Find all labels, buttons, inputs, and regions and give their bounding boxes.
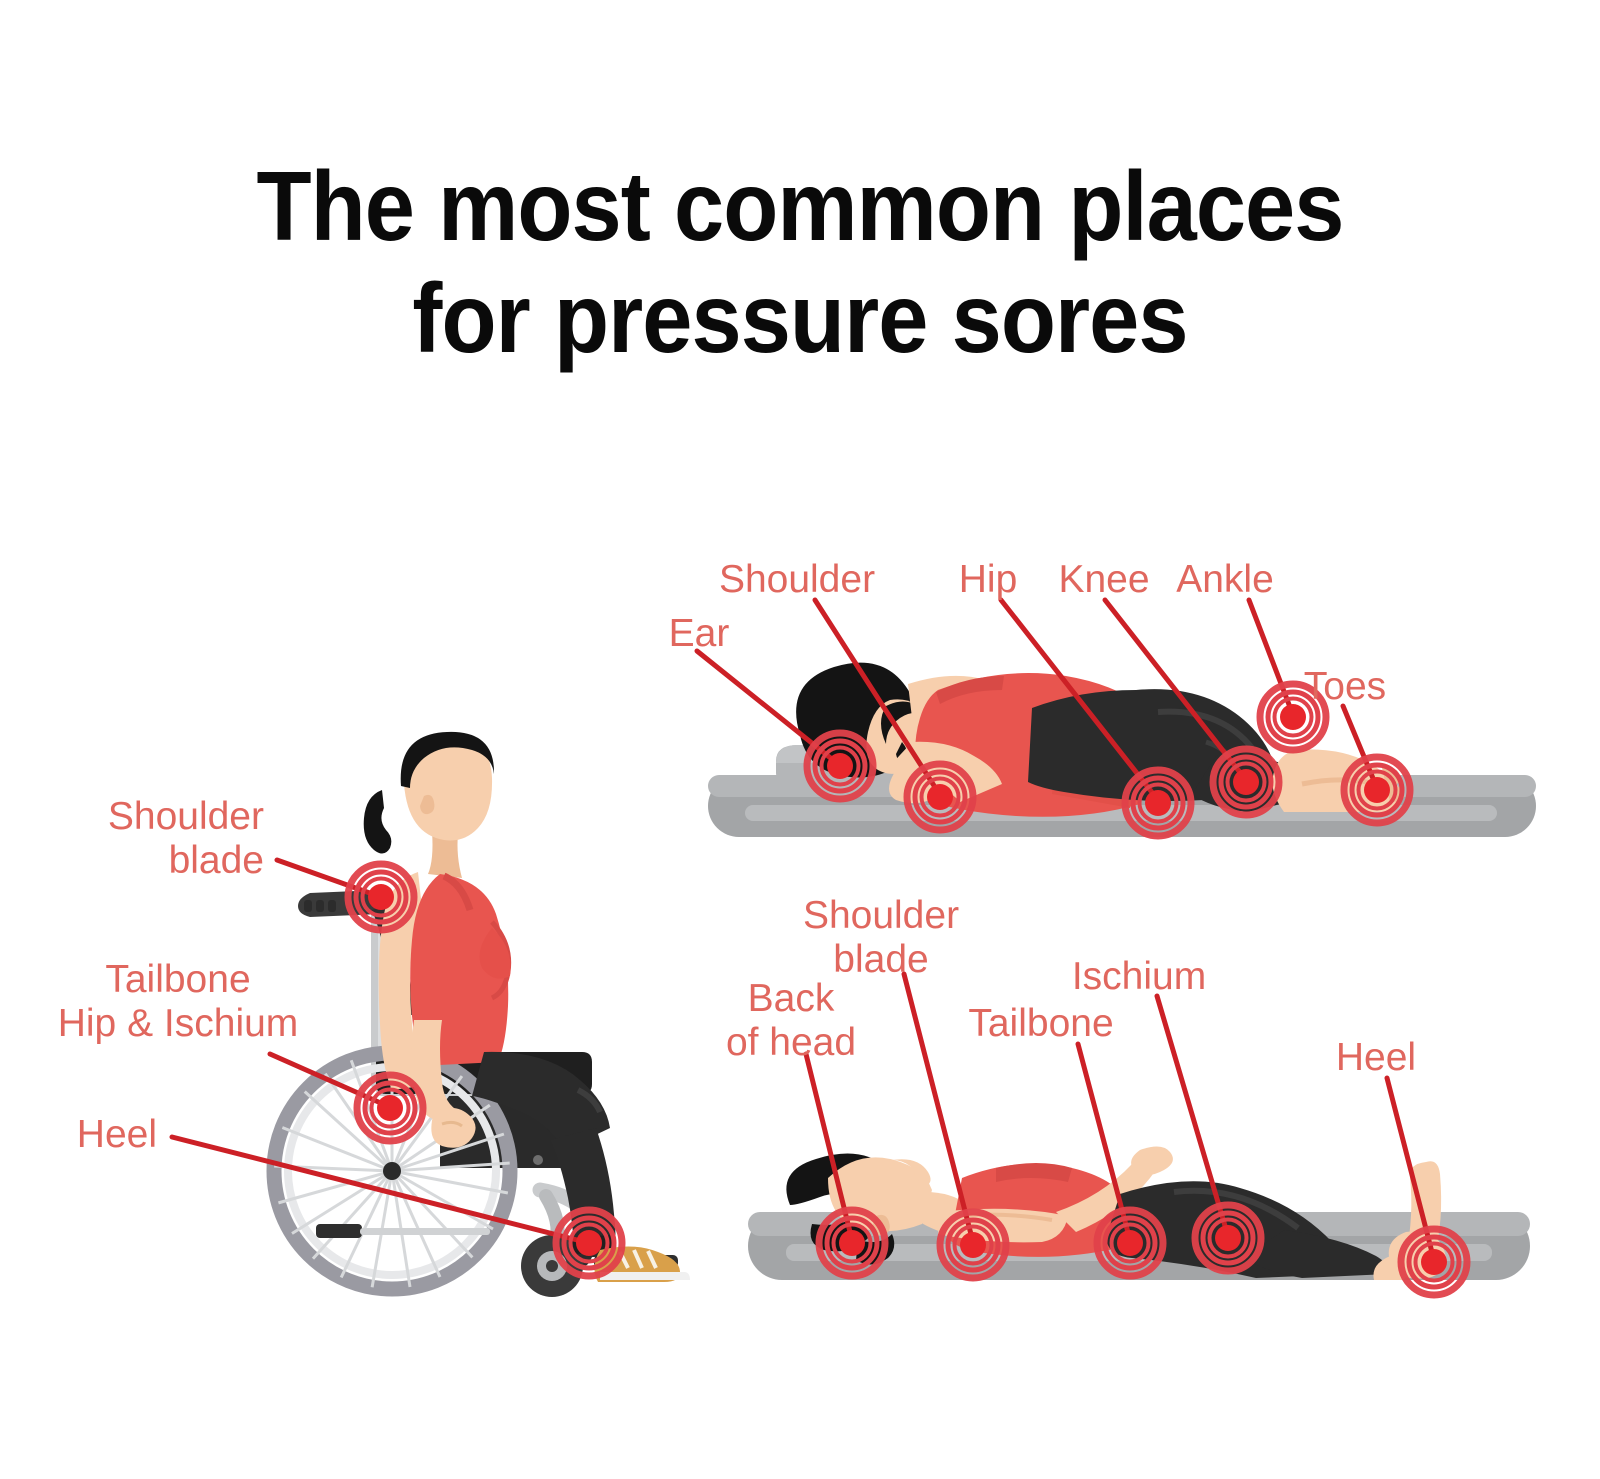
pressure-point-marker-knee <box>1213 749 1279 815</box>
mattress-top <box>708 775 1536 837</box>
leader-heel-wheelchair <box>172 1137 589 1243</box>
mattress-bottom <box>748 1212 1530 1280</box>
side-lying-figure <box>708 663 1536 837</box>
pressure-point-marker-hip <box>1125 770 1191 836</box>
pressure-point-marker-heel <box>556 1210 622 1276</box>
pressure-point-marker-shoulder-blade <box>348 864 414 930</box>
label-ankle: Ankle <box>1176 558 1274 602</box>
leader-back-of-head <box>806 1054 852 1240</box>
label-shoulder-blade-wheelchair: Shoulder blade <box>108 795 264 883</box>
label-shoulder-blade-supine: Shoulder blade <box>803 894 959 982</box>
label-tailbone: Tailbone <box>968 1002 1113 1046</box>
leader-toes <box>1343 706 1377 788</box>
wheelchair-figure <box>274 732 690 1297</box>
leader-ear <box>697 651 838 764</box>
label-toes: Toes <box>1304 665 1386 709</box>
wheelchair-rear-wheel <box>274 1053 510 1289</box>
leader-shoulder-blade <box>904 974 973 1242</box>
infographic-canvas: The most common places for pressure sore… <box>0 0 1600 1479</box>
leader-ankle <box>1249 600 1293 715</box>
wheelchair-frame <box>298 890 678 1268</box>
leader-ischium <box>1157 996 1228 1236</box>
label-back-of-head: Back of head <box>726 977 856 1065</box>
leader-tailbone-hip-ischium <box>270 1054 392 1108</box>
seated-woman <box>364 732 690 1282</box>
label-heel-supine: Heel <box>1336 1036 1416 1080</box>
leader-tailbone <box>1078 1044 1130 1240</box>
label-knee: Knee <box>1058 558 1149 602</box>
pressure-point-marker-ischium <box>1195 1205 1261 1271</box>
pressure-point-marker-tailbone-hip-ischium <box>357 1075 423 1141</box>
pressure-point-marker-heel <box>1401 1229 1467 1295</box>
label-tailbone-hip-ischium: Tailbone Hip & Ischium <box>58 958 299 1046</box>
label-shoulder: Shoulder <box>719 558 875 602</box>
wheelchair-caster-wheel <box>521 1196 583 1297</box>
leader-shoulder <box>815 600 940 795</box>
pressure-point-marker-tailbone <box>1097 1210 1163 1276</box>
leader-knee <box>1105 600 1246 780</box>
pressure-point-marker-toes <box>1344 757 1410 823</box>
leader-shoulder-blade-wheelchair <box>277 860 381 897</box>
label-heel-wheelchair: Heel <box>77 1113 157 1157</box>
label-hip: Hip <box>959 558 1018 602</box>
leader-hip <box>1001 600 1158 800</box>
supine-body <box>786 1146 1446 1280</box>
page-title: The most common places for pressure sore… <box>64 150 1536 374</box>
pressure-point-marker-back-of-head <box>819 1210 885 1276</box>
leader-heel-supine <box>1387 1078 1434 1260</box>
label-ear: Ear <box>669 612 730 656</box>
supine-figure <box>748 1146 1530 1280</box>
pressure-point-marker-ear <box>807 733 873 799</box>
label-ischium: Ischium <box>1072 955 1206 999</box>
pressure-point-marker-shoulder-blade <box>940 1212 1006 1278</box>
pressure-point-marker-shoulder <box>907 764 973 830</box>
